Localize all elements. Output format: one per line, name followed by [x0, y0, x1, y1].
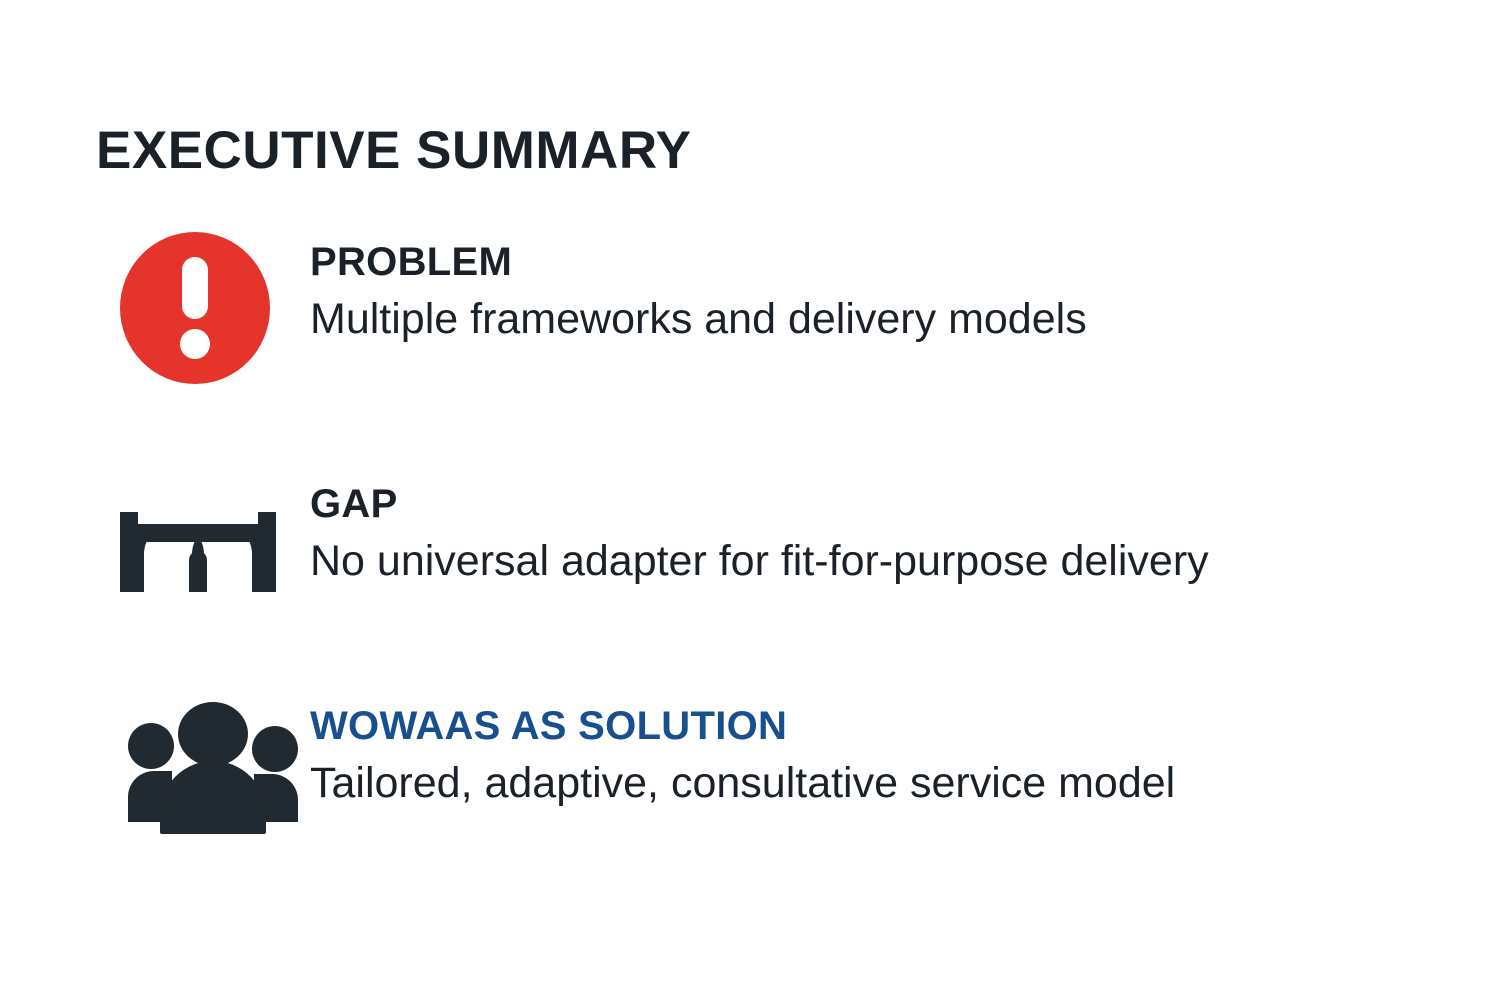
people-group-icon: [120, 702, 306, 834]
summary-item-problem: PROBLEM Multiple frameworks and delivery…: [96, 228, 1426, 398]
executive-summary-slide: EXECUTIVE SUMMARY PROBLEM Multiple frame…: [0, 0, 1488, 992]
solution-text-cell: WOWAAS AS SOLUTION Tailored, adaptive, c…: [310, 690, 1175, 808]
problem-text-cell: PROBLEM Multiple frameworks and delivery…: [310, 228, 1087, 344]
gap-description: No universal adapter for fit-for-purpose…: [310, 537, 1209, 586]
problem-icon-cell: [96, 228, 310, 388]
page-title: EXECUTIVE SUMMARY: [96, 122, 692, 180]
alert-exclamation-circle-icon: [120, 232, 270, 384]
gap-text-cell: GAP No universal adapter for fit-for-pur…: [310, 470, 1209, 586]
bridge-icon: [120, 512, 276, 592]
solution-description: Tailored, adaptive, consultative service…: [310, 759, 1175, 808]
problem-description: Multiple frameworks and delivery models: [310, 295, 1087, 344]
gap-heading: GAP: [310, 482, 1209, 527]
summary-item-gap: GAP No universal adapter for fit-for-pur…: [96, 470, 1426, 640]
problem-heading: PROBLEM: [310, 240, 1087, 285]
gap-icon-cell: [96, 470, 310, 630]
solution-heading: WOWAAS AS SOLUTION: [310, 704, 1175, 749]
solution-icon-cell: [96, 690, 310, 850]
summary-item-solution: WOWAAS AS SOLUTION Tailored, adaptive, c…: [96, 690, 1426, 860]
